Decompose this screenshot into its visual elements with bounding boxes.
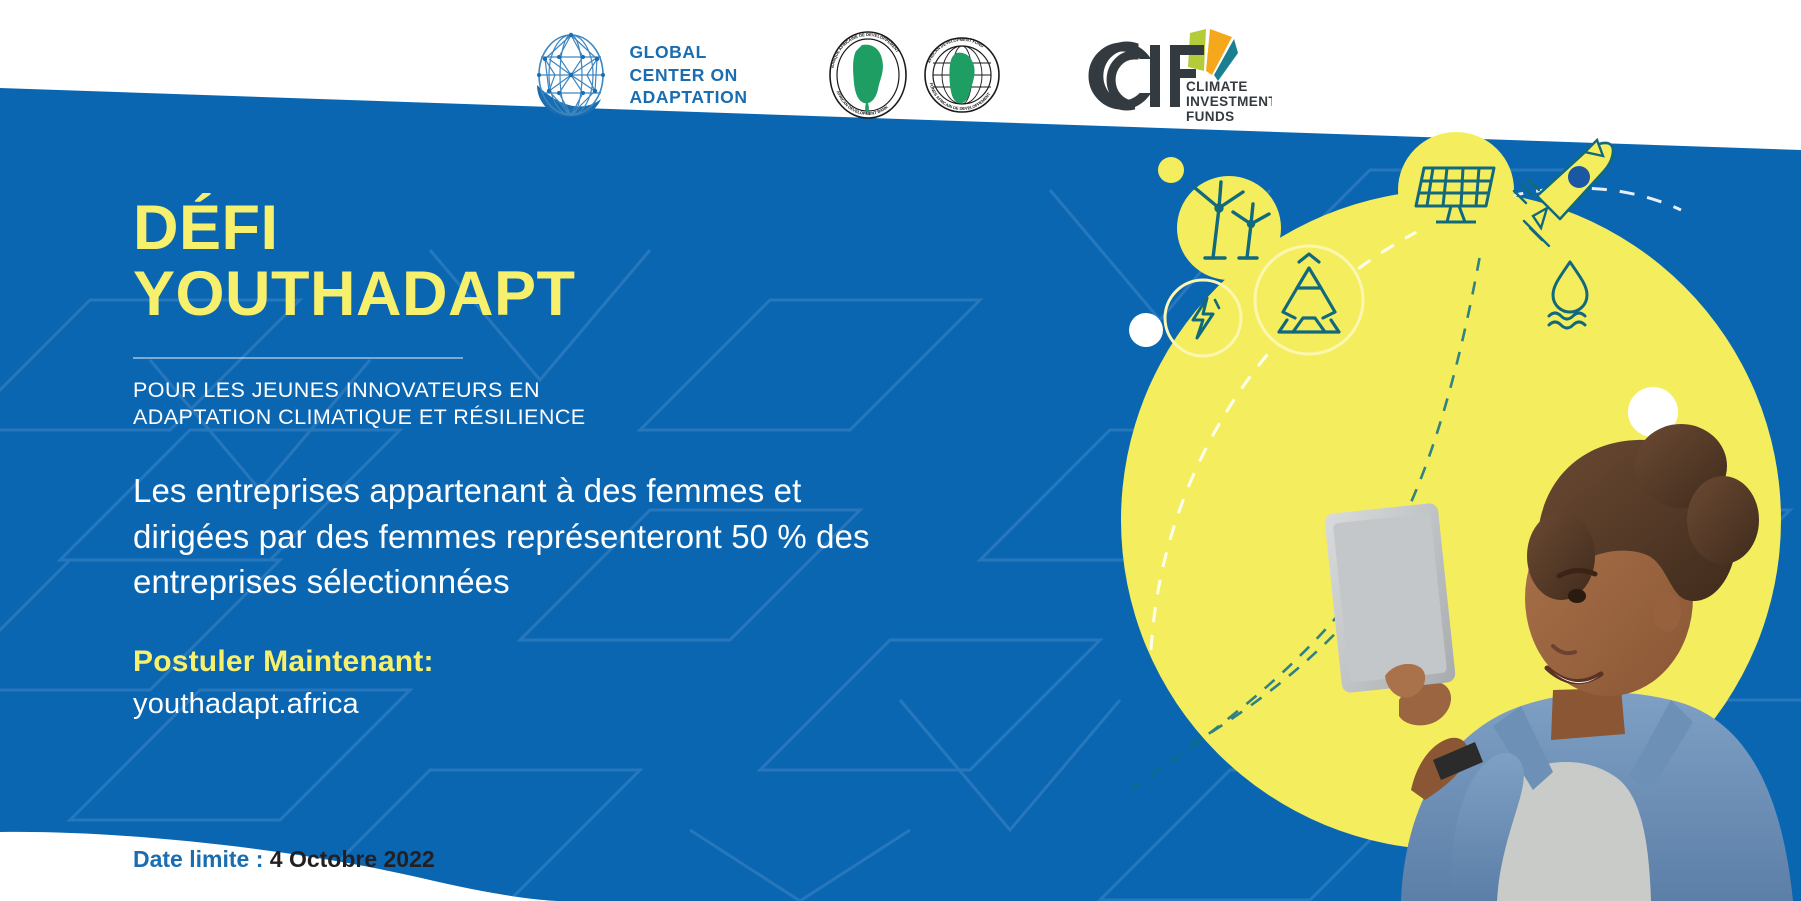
subtitle-line-1: POUR LES JEUNES INNOVATEURS EN (133, 377, 993, 405)
cif-logo-icon: CLIMATE INVESTMENT FUNDS (1082, 23, 1272, 127)
gca-line-1: GLOBAL (629, 41, 747, 64)
recycle-icon (1255, 246, 1363, 354)
wind-turbine-icon (1177, 176, 1281, 280)
page-title: DÉFI YOUTHADAPT (133, 196, 993, 327)
youthadapt-challenge-banner: GLOBAL CENTER ON ADAPTATION BANQUE AFRIC… (0, 0, 1801, 901)
svg-text:CLIMATE: CLIMATE (1186, 79, 1248, 94)
afdb-logo: BANQUE AFRICAINE DE DEVELOPPEMENT AFRICA… (822, 29, 1008, 121)
svg-text:INVESTMENT: INVESTMENT (1186, 94, 1272, 109)
body-copy: Les entreprises appartenant à des femmes… (133, 468, 923, 605)
gca-line-3: ADAPTATION (629, 86, 747, 109)
main-content-block: DÉFI YOUTHADAPT POUR LES JEUNES INNOVATE… (133, 196, 993, 721)
partner-logo-bar: GLOBAL CENTER ON ADAPTATION BANQUE AFRIC… (0, 0, 1801, 150)
globe-icon (529, 29, 613, 121)
water-drop-icon (1524, 242, 1616, 334)
cta-label: Postuler Maintenant: (133, 645, 993, 679)
tablet-device (1324, 503, 1456, 694)
white-dot-accent (1129, 313, 1163, 347)
yellow-dot-small (1158, 157, 1184, 183)
afdb-seal-icon: BANQUE AFRICAINE DE DEVELOPPEMENT AFRICA… (822, 29, 914, 121)
deadline-line: Date limite : 4 Octobre 2022 (133, 846, 435, 873)
deadline-label: Date limite : (133, 846, 263, 872)
cif-logo: CLIMATE INVESTMENT FUNDS (1082, 23, 1272, 127)
svg-text:FUNDS: FUNDS (1186, 109, 1235, 124)
gca-logo: GLOBAL CENTER ON ADAPTATION (529, 29, 747, 121)
divider-rule (133, 357, 463, 359)
cta-url-link[interactable]: youthadapt.africa (133, 688, 993, 721)
headline-line-1: DÉFI (133, 193, 279, 263)
subtitle-line-2: ADAPTATION CLIMATIQUE ET RÉSILIENCE (133, 404, 993, 432)
gca-line-2: CENTER ON (629, 64, 747, 87)
adf-seal-icon: AFRICAN DEVELOPMENT FUND FONDS AFRICAIN … (916, 29, 1008, 121)
deadline-value: 4 Octobre 2022 (270, 846, 435, 872)
subtitle: POUR LES JEUNES INNOVATEURS EN ADAPTATIO… (133, 377, 993, 433)
headline-line-2: YOUTHADAPT (133, 262, 993, 328)
